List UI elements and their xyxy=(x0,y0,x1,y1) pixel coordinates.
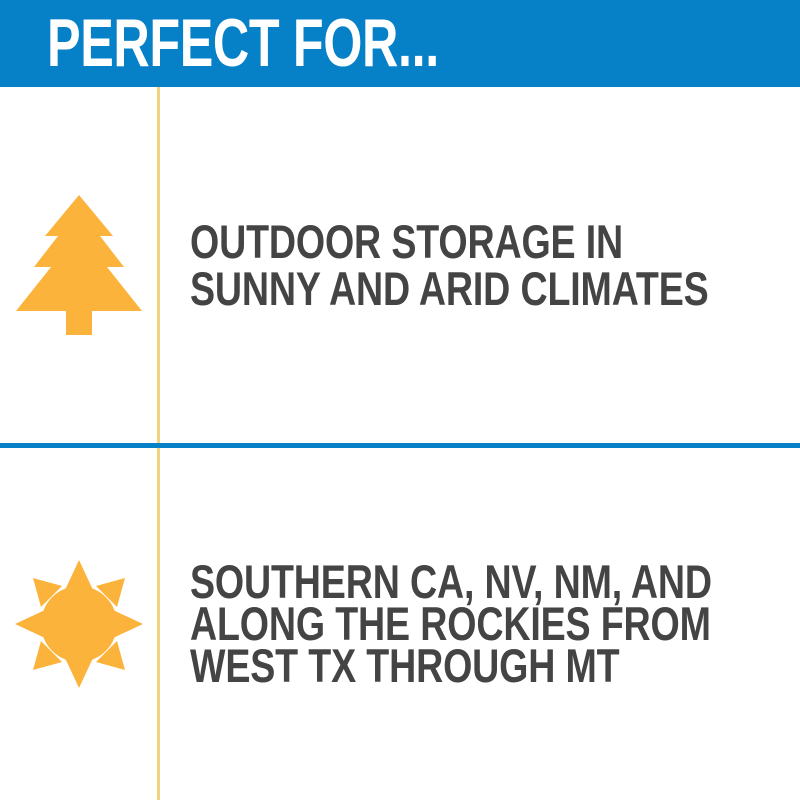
feature-row-regions: SOUTHERN CA, NV, NM, AND ALONG THE ROCKI… xyxy=(0,448,800,800)
icon-cell-outdoor-storage xyxy=(0,87,157,443)
headline-line: SUNNY AND ARID CLIMATES xyxy=(190,265,670,312)
header-bar: PERFECT FOR... xyxy=(0,0,800,87)
pine-tree-icon xyxy=(16,195,142,335)
sun-icon xyxy=(15,560,143,688)
text-cell-regions: SOUTHERN CA, NV, NM, AND ALONG THE ROCKI… xyxy=(190,448,790,800)
feature-row-outdoor-storage: OUTDOOR STORAGE IN SUNNY AND ARID CLIMAT… xyxy=(0,87,800,443)
page-title: PERFECT FOR... xyxy=(47,6,439,80)
icon-cell-regions xyxy=(0,448,157,800)
text-cell-outdoor-storage: OUTDOOR STORAGE IN SUNNY AND ARID CLIMAT… xyxy=(190,87,790,443)
headline-line: WEST TX THROUGH MT xyxy=(190,645,670,687)
infographic-panel: PERFECT FOR... OUTDOOR STORAGE IN SUNNY … xyxy=(0,0,800,800)
headline-line: OUTDOOR STORAGE IN xyxy=(190,218,670,265)
